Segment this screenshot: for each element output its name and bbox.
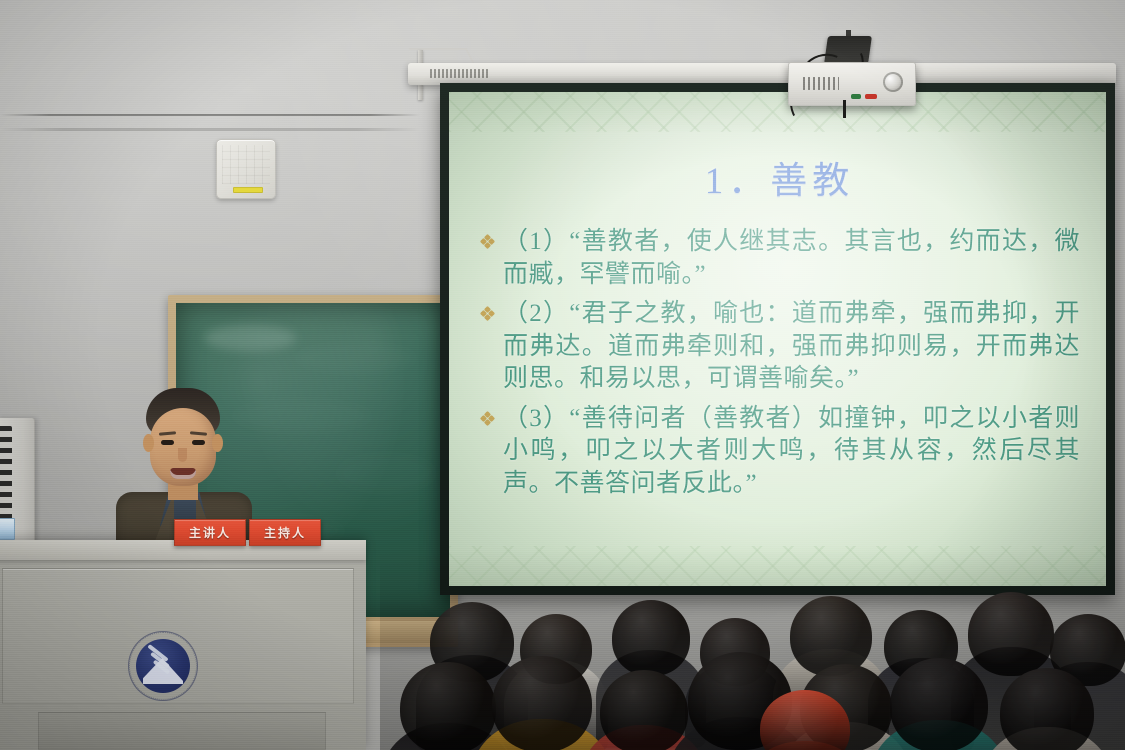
projector-vent xyxy=(803,77,839,90)
lecture-hall-photo: 1．善教 （1）“善教者，使人继其志。其言也，约而达，微而臧，罕譬而喻。” （2… xyxy=(0,0,1125,750)
audience-member-head xyxy=(790,596,872,676)
audience-member-head xyxy=(890,658,988,750)
speaker-eye-right xyxy=(192,440,205,445)
audience-member-head xyxy=(600,670,688,750)
speaker-eye-left xyxy=(161,440,174,445)
chalk-smudge xyxy=(336,453,436,493)
diamond-bullet-icon xyxy=(481,307,494,320)
speaker-mouth xyxy=(170,468,196,479)
audience-group xyxy=(0,530,1125,750)
slide-bullet-text: （1）“善教者，使人继其志。其言也，约而达，微而臧，罕譬而喻。” xyxy=(503,226,1080,291)
audience-member-head xyxy=(968,592,1054,676)
slide-content: 1．善教 （1）“善教者，使人继其志。其言也，约而达，微而臧，罕譬而喻。” （2… xyxy=(449,92,1106,586)
slide-bullet-2: （2）“君子之教，喻也：道而弗牵，强而弗抑，开而弗达。道而弗牵则和，强而弗抑则易… xyxy=(479,298,1080,396)
vent-louvers xyxy=(0,426,12,522)
slide-bullet-text: （2）“君子之教，喻也：道而弗牵，强而弗抑，开而弗达。道而弗牵则和，强而弗抑则易… xyxy=(503,298,1080,396)
projector-status-led xyxy=(851,94,861,99)
wall-seam-upper xyxy=(0,114,420,116)
speaker-ear-left xyxy=(143,434,154,452)
projector-hanging-cable xyxy=(843,100,846,118)
audience-member-head xyxy=(612,600,690,676)
panel-grille xyxy=(222,145,270,184)
projector-power-led xyxy=(865,94,877,99)
audience-member-head xyxy=(1000,668,1094,750)
wall-control-panel[interactable] xyxy=(216,139,276,199)
audience-member-head xyxy=(492,656,592,750)
panel-yellow-label xyxy=(233,187,263,193)
ceiling-projector xyxy=(788,62,916,106)
chalk-smudge xyxy=(204,325,296,351)
slide-title: 1．善教 xyxy=(479,150,1080,204)
projector-lens-icon xyxy=(883,72,903,92)
screen-bracket-lower xyxy=(418,84,423,100)
audience-member-head xyxy=(400,662,496,750)
screen-brand-label xyxy=(430,69,488,78)
diamond-bullet-icon xyxy=(481,412,494,425)
chalk-smudge xyxy=(296,343,416,373)
projection-screen-housing xyxy=(408,63,1116,85)
speaker-ear-right xyxy=(212,434,223,452)
slide-bullet-3: （3）“善待问者（善教者）如撞钟，叩之以小者则小鸣，叩之以大者则大鸣，待其从容，… xyxy=(479,403,1080,501)
slide-bullet-text: （3）“善待问者（善教者）如撞钟，叩之以小者则小鸣，叩之以大者则大鸣，待其从容，… xyxy=(503,403,1080,501)
projection-screen: 1．善教 （1）“善教者，使人继其志。其言也，约而达，微而臧，罕譬而喻。” （2… xyxy=(440,83,1115,595)
diamond-bullet-icon xyxy=(481,235,494,248)
slide-surface: 1．善教 （1）“善教者，使人继其志。其言也，约而达，微而臧，罕譬而喻。” （2… xyxy=(449,92,1106,586)
speaker-nose xyxy=(178,448,187,462)
wall-seam-lower xyxy=(0,128,420,131)
slide-bullet-1: （1）“善教者，使人继其志。其言也，约而达，微而臧，罕譬而喻。” xyxy=(479,226,1080,291)
